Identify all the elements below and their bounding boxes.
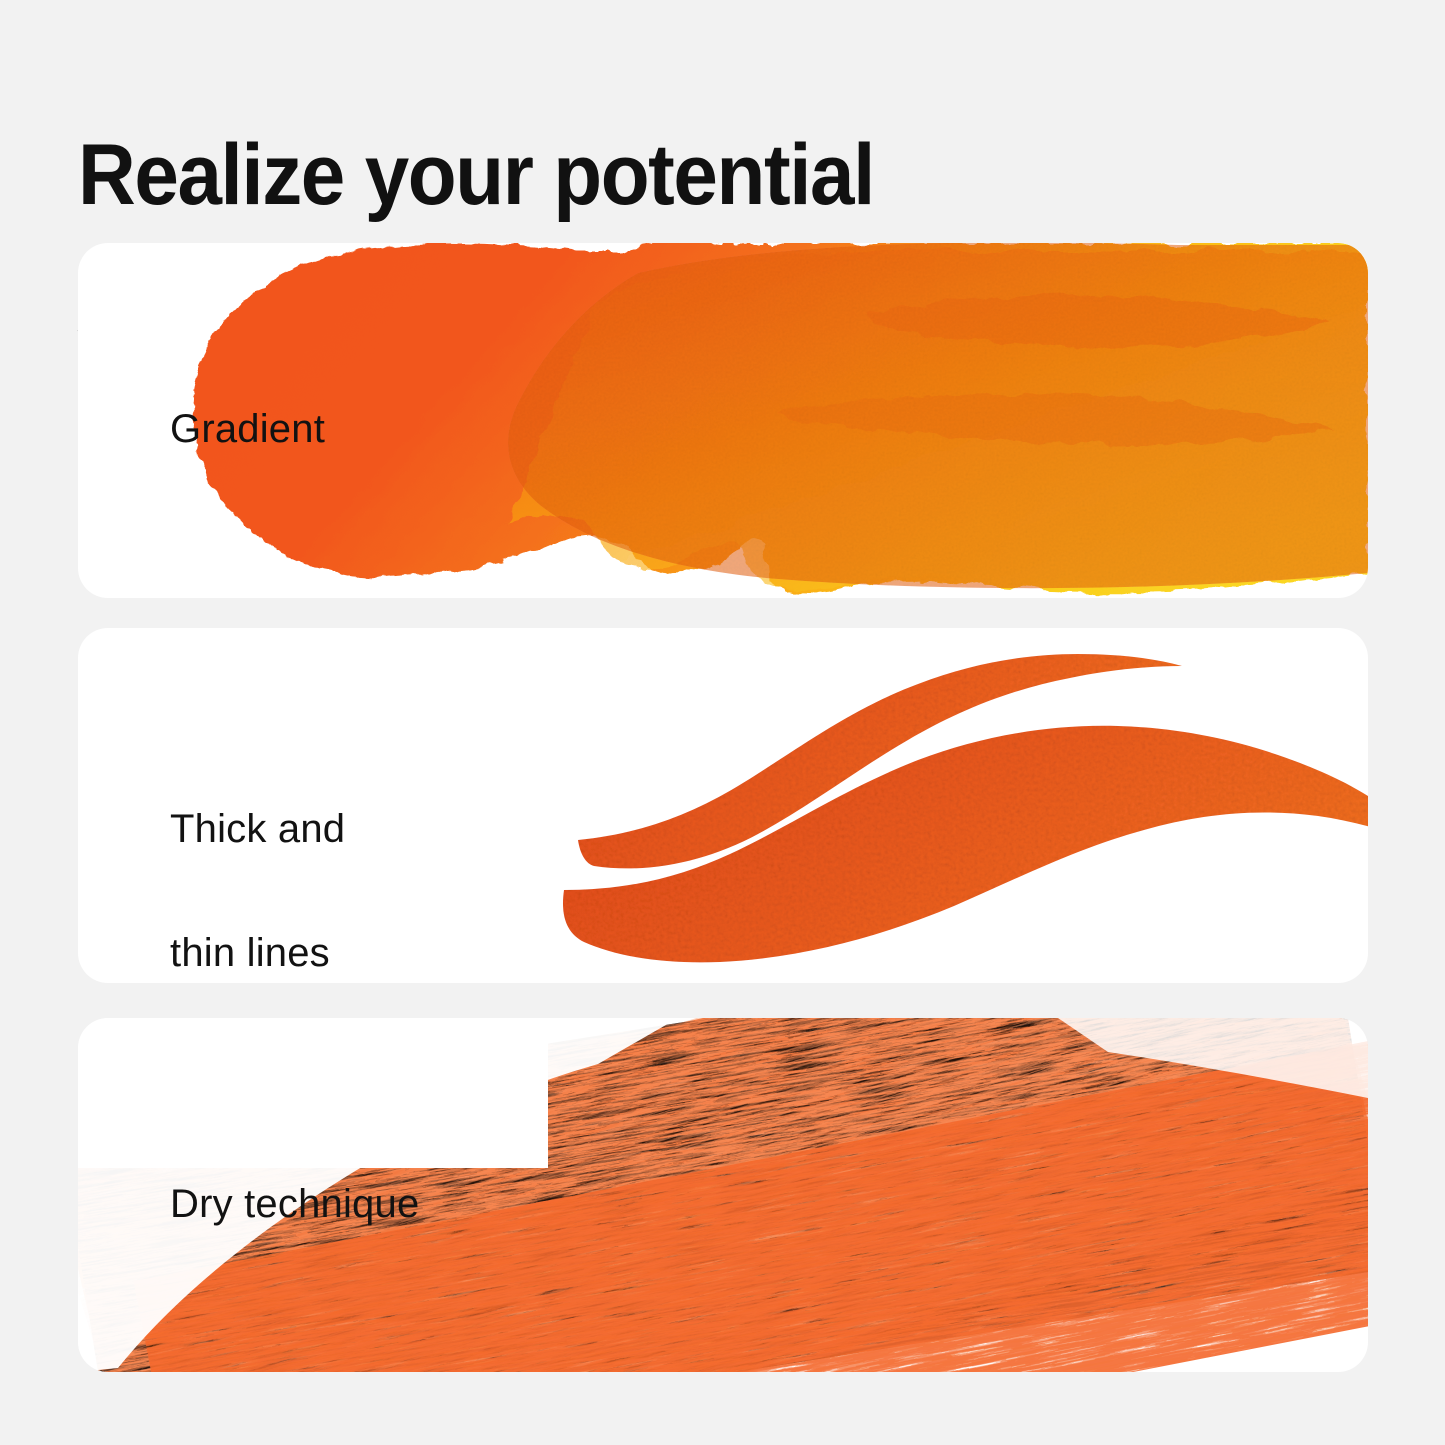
page-title-line-1: Realize your potential bbox=[78, 132, 1148, 218]
technique-label-dry-technique: Dry technique bbox=[170, 1173, 419, 1235]
technique-label-gradient: Gradient bbox=[170, 398, 325, 460]
technique-card-dry-technique[interactable]: Dry technique bbox=[78, 1018, 1368, 1372]
technique-card-thick-and-thin-lines[interactable]: Thick and thin lines bbox=[78, 628, 1368, 983]
technique-label-line-1: Thick and bbox=[170, 807, 345, 851]
technique-label-line-2: thin lines bbox=[170, 931, 330, 975]
technique-label-thick-and-thin-lines: Thick and thin lines bbox=[170, 736, 345, 983]
poster-canvas: Realize your potential with different te… bbox=[0, 0, 1445, 1445]
technique-card-gradient[interactable]: Gradient bbox=[78, 243, 1368, 598]
